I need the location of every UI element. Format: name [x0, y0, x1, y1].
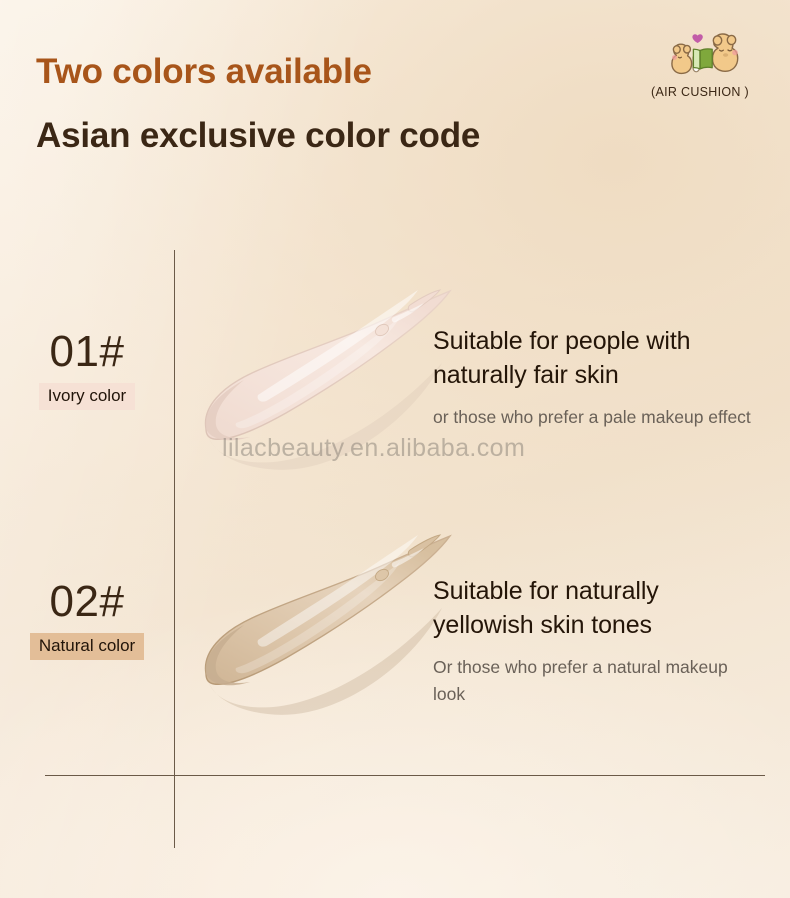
- shade-row-ivory: 01# Ivory color: [0, 285, 790, 535]
- brand-caption: (AIR CUSHION ): [644, 85, 756, 99]
- two-capybara-reading-book-with-heart-icon: [650, 26, 750, 84]
- shade-title: Suitable for people with naturally fair …: [433, 324, 763, 392]
- headline-secondary: Asian exclusive color code: [36, 116, 480, 156]
- shade-subtitle: Or those who prefer a natural makeup loo…: [433, 654, 763, 708]
- headline-primary: Two colors available: [36, 52, 372, 92]
- shade-name-badge: Natural color: [30, 633, 144, 660]
- shade-label-block-ivory: 01# Ivory color: [0, 330, 174, 410]
- shade-subtitle: or those who prefer a pale makeup effect: [433, 404, 763, 431]
- shade-label-block-natural: 02# Natural color: [0, 580, 174, 660]
- brand-logo: (AIR CUSHION ): [644, 26, 756, 99]
- cream-smear-swatch-icon-natural: [196, 528, 458, 728]
- shade-code: 02#: [0, 580, 174, 624]
- shade-title: Suitable for naturally yellowish skin to…: [433, 574, 763, 642]
- shade-row-natural: 02# Natural color: [0, 532, 790, 782]
- shade-name-badge: Ivory color: [39, 383, 135, 410]
- poster-header: Two colors available Asian exclusive col…: [0, 0, 790, 185]
- shade-code: 01#: [0, 330, 174, 374]
- product-shade-poster: Two colors available Asian exclusive col…: [0, 0, 790, 898]
- shade-copy-ivory: Suitable for people with naturally fair …: [433, 324, 763, 431]
- shade-copy-natural: Suitable for naturally yellowish skin to…: [433, 574, 763, 708]
- cream-smear-swatch-icon-ivory: [196, 283, 458, 483]
